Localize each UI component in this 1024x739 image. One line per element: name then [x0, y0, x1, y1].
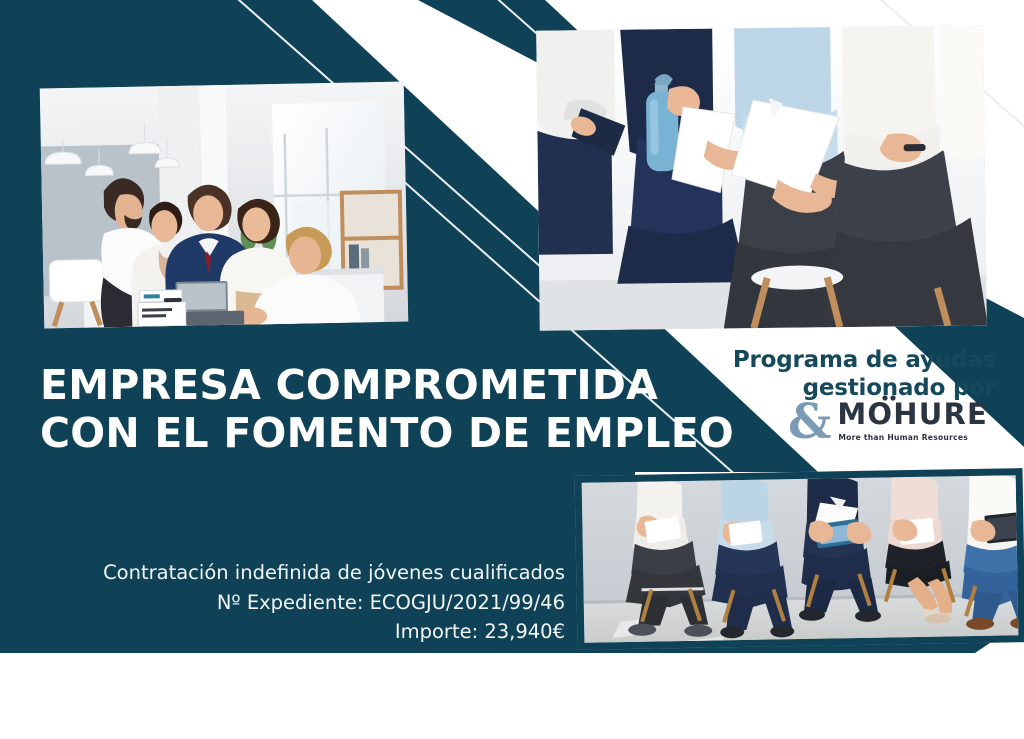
grant-details: Contratación indefinida de jóvenes cuali… — [20, 558, 565, 647]
job-interview-queue-photo — [575, 468, 1024, 650]
page-title: EMPRESA COMPROMETIDA CON EL FOMENTO DE E… — [40, 362, 680, 457]
headline-line-2: CON EL FOMENTO DE EMPLEO — [40, 410, 680, 458]
mohure-logo: & MOHURE More than Human Resources — [788, 400, 988, 442]
grant-line-file-number: Nº Expediente: ECOGJU/2021/99/46 — [20, 588, 565, 618]
poster-canvas: EMPRESA COMPROMETIDA CON EL FOMENTO DE E… — [0, 0, 1024, 739]
headline-line-1: EMPRESA COMPROMETIDA — [40, 362, 680, 410]
managed-by-label: Programa de ayudas gestionado por — [696, 346, 996, 402]
grant-line-contract: Contratación indefinida de jóvenes cuali… — [20, 558, 565, 588]
mohure-tagline: More than Human Resources — [838, 433, 968, 442]
footer-logo-bar: GENERALITAT VALENCIANA LABORA Servei Val… — [0, 653, 1024, 739]
mohure-logo-text: MOHURE More than Human Resources — [837, 400, 988, 442]
ampersand-icon: & — [788, 403, 831, 441]
handshake-meeting-photo — [40, 82, 409, 329]
managed-by-line-1: Programa de ayudas — [696, 346, 996, 374]
candidates-waiting-photo — [536, 25, 987, 330]
grant-line-amount: Importe: 23,940€ — [20, 617, 565, 647]
mohure-wordmark: MOHURE — [837, 400, 988, 429]
umlaut-icon — [882, 395, 896, 402]
